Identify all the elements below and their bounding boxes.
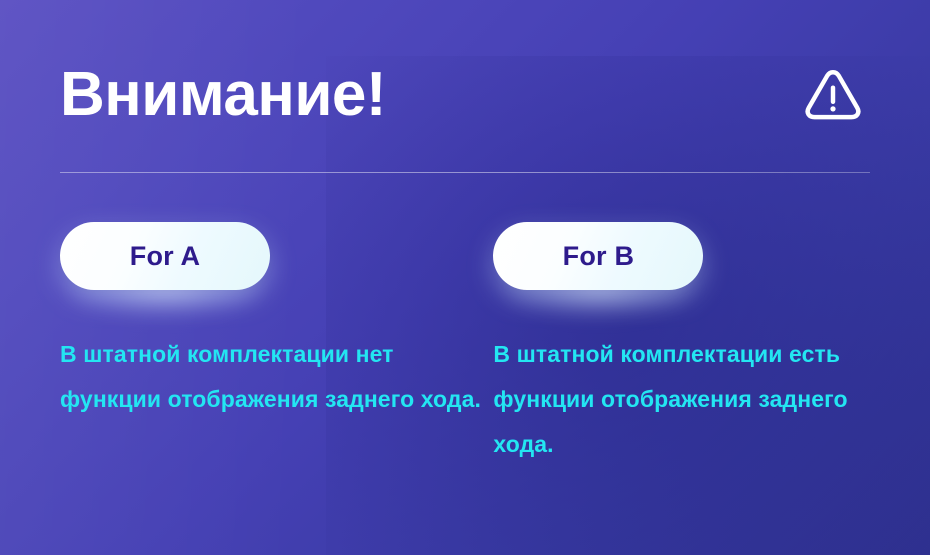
for-b-description: В штатной комплектации есть функции отоб… — [493, 290, 872, 467]
for-b-button[interactable]: For B — [493, 222, 703, 290]
options-columns: For A В штатной комплектации нет функции… — [60, 222, 872, 467]
page-title: Внимание! — [60, 64, 386, 126]
pill-wrapper-for-a: For A — [60, 222, 270, 290]
header-divider — [60, 172, 870, 173]
warning-triangle-icon — [802, 64, 870, 126]
warning-slide: Внимание! For A В штатной комплектации н… — [0, 0, 930, 555]
option-column-for-b: For B В штатной комплектации есть функци… — [493, 222, 872, 467]
option-column-for-a: For A В штатной комплектации нет функции… — [60, 222, 493, 467]
pill-wrapper-for-b: For B — [493, 222, 703, 290]
slide-header: Внимание! — [60, 52, 870, 138]
for-a-button[interactable]: For A — [60, 222, 270, 290]
for-a-description: В штатной комплектации нет функции отобр… — [60, 290, 493, 422]
